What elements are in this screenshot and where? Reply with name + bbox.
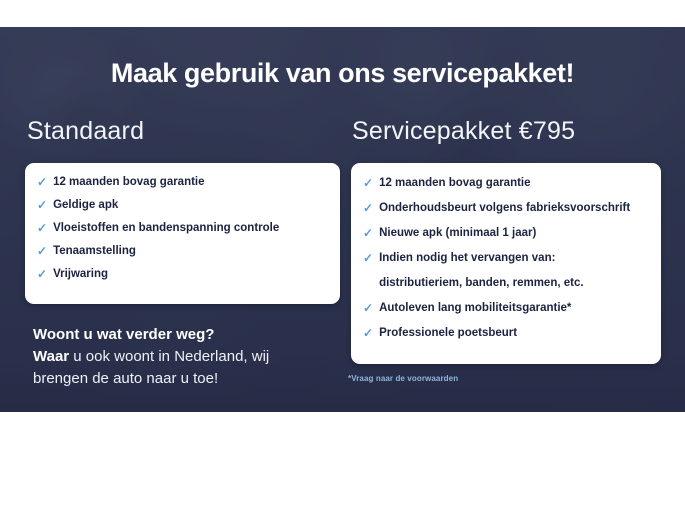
check-icon: ✓	[37, 245, 47, 258]
column-title-servicepakket: Servicepakket €795	[352, 117, 575, 146]
terms-footnote: *Vraag naar de voorwaarden	[348, 374, 458, 383]
check-icon: ✓	[363, 302, 373, 315]
list-item-label: Nieuwe apk (minimaal 1 jaar)	[379, 227, 536, 240]
standaard-card: ✓ 12 maanden bovag garantie ✓ Geldige ap…	[25, 163, 340, 304]
page-title: Maak gebruik van ons servicepakket!	[0, 58, 685, 89]
home-delivery-line-2: Waar u ook woont in Nederland, wij	[33, 346, 338, 368]
check-icon: ✓	[363, 227, 373, 240]
servicepakket-card: ✓ 12 maanden bovag garantie ✓ Onderhouds…	[351, 163, 661, 364]
top-white-strip	[0, 0, 685, 27]
list-item-label: Tenaamstelling	[53, 245, 136, 258]
list-item-continuation: ✓ distributieriem, banden, remmen, etc.	[351, 277, 661, 290]
check-icon: ✓	[37, 199, 47, 212]
list-item-label: Geldige apk	[53, 199, 118, 212]
list-item-label: Professionele poetsbeurt	[379, 327, 517, 340]
list-item: ✓ Onderhoudsbeurt volgens fabrieksvoorsc…	[351, 202, 661, 215]
standaard-feature-list: ✓ 12 maanden bovag garantie ✓ Geldige ap…	[25, 163, 340, 281]
home-delivery-line-2-bold: Waar	[33, 348, 69, 365]
list-item-label: Onderhoudsbeurt volgens fabrieksvoorschr…	[379, 202, 630, 215]
list-item: ✓ Geldige apk	[25, 199, 340, 212]
list-item: ✓ 12 maanden bovag garantie	[351, 177, 661, 190]
column-title-standaard: Standaard	[27, 117, 144, 146]
list-item-label: Vloeistoffen en bandenspanning controle	[53, 222, 279, 235]
home-delivery-line-1: Woont u wat verder weg?	[33, 324, 338, 346]
check-icon: ✓	[37, 268, 47, 281]
list-item-label: Autoleven lang mobiliteitsgarantie*	[379, 302, 571, 315]
list-item-label: 12 maanden bovag garantie	[379, 177, 530, 190]
list-item: ✓ Indien nodig het vervangen van:	[351, 252, 661, 265]
servicepakket-feature-list: ✓ 12 maanden bovag garantie ✓ Onderhouds…	[351, 163, 661, 340]
check-icon: ✓	[363, 327, 373, 340]
service-package-banner: Maak gebruik van ons servicepakket! Stan…	[0, 0, 685, 514]
footer-bar: Meer informatie: wijnne.nl AUTOBEDRIJF W…	[0, 412, 685, 514]
check-icon: ✓	[37, 222, 47, 235]
home-delivery-line-3: brengen de auto naar u toe!	[33, 368, 338, 390]
list-item-label: Indien nodig het vervangen van:	[379, 252, 555, 265]
check-icon: ✓	[363, 177, 373, 190]
list-item: ✓ Professionele poetsbeurt	[351, 327, 661, 340]
list-item: ✓ 12 maanden bovag garantie	[25, 176, 340, 189]
check-icon: ✓	[363, 202, 373, 215]
list-item-label: Vrijwaring	[53, 268, 108, 281]
list-item-label: 12 maanden bovag garantie	[53, 176, 204, 189]
check-icon: ✓	[37, 176, 47, 189]
list-item: ✓ Vloeistoffen en bandenspanning control…	[25, 222, 340, 235]
check-icon: ✓	[363, 252, 373, 265]
list-item-label: distributieriem, banden, remmen, etc.	[379, 277, 584, 290]
list-item: ✓ Autoleven lang mobiliteitsgarantie*	[351, 302, 661, 315]
list-item: ✓ Tenaamstelling	[25, 245, 340, 258]
home-delivery-line-2-rest: u ook woont in Nederland, wij	[69, 348, 269, 365]
list-item: ✓ Nieuwe apk (minimaal 1 jaar)	[351, 227, 661, 240]
list-item: ✓ Vrijwaring	[25, 268, 340, 281]
home-delivery-message: Woont u wat verder weg? Waar u ook woont…	[33, 324, 338, 390]
